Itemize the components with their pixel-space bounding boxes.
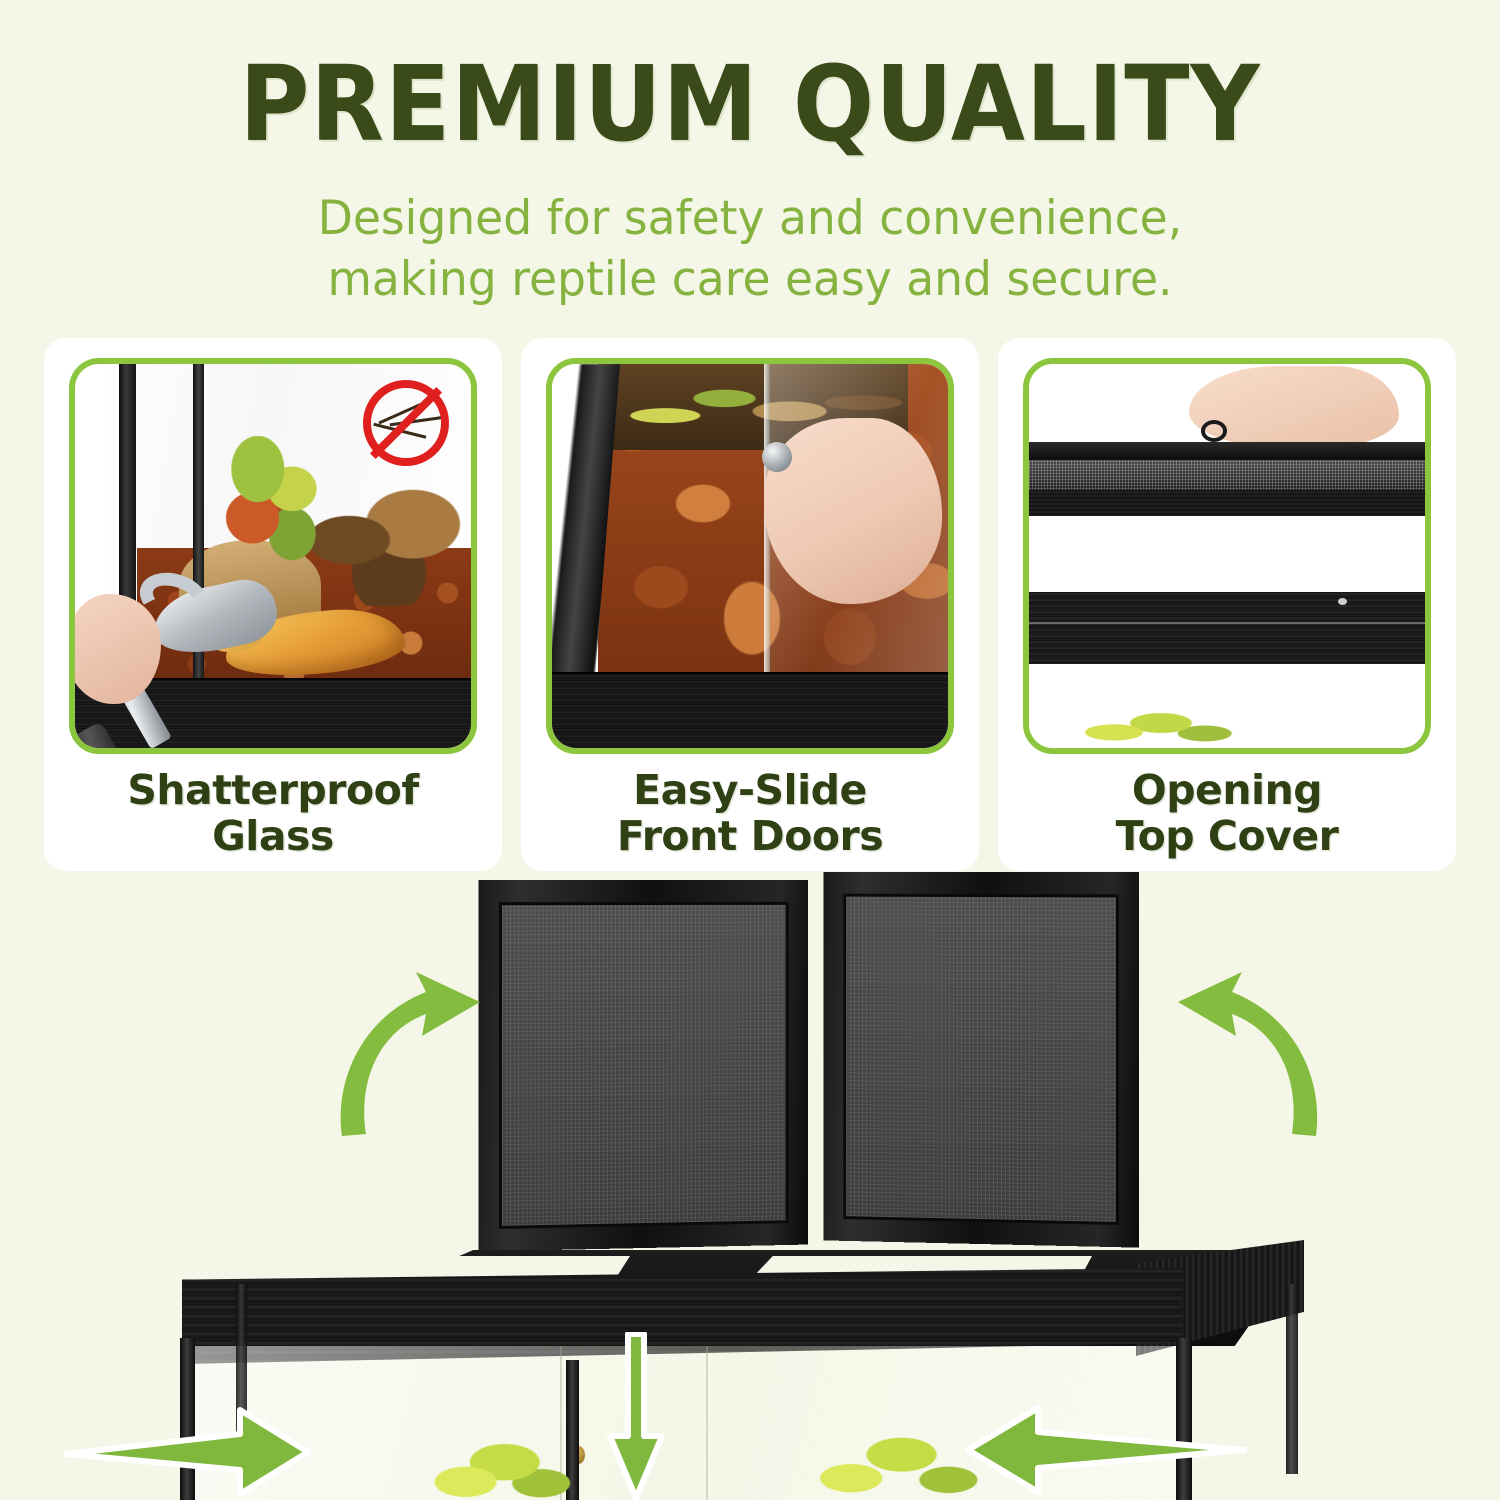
plant-decor xyxy=(205,436,337,568)
feature-label-opening-top-cover: Opening Top Cover xyxy=(1116,768,1339,860)
rail-seam xyxy=(1029,622,1425,624)
feature-label-easy-slide-front-doors: Easy-Slide Front Doors xyxy=(617,768,883,860)
feature-label-line-1: Easy-Slide xyxy=(617,768,883,814)
subtitle-line-1: Designed for safety and convenience, xyxy=(23,188,1478,249)
feature-label-line-1: Opening xyxy=(1116,768,1339,814)
side-arrow-right-icon xyxy=(928,1400,1248,1496)
feature-label-line-2: Top Cover xyxy=(1116,814,1339,860)
terrarium-hammer-scene xyxy=(75,364,471,748)
no-crack-icon xyxy=(363,380,449,466)
top-cover-scene xyxy=(1029,364,1425,748)
feature-label-line-2: Glass xyxy=(127,814,418,860)
terrarium-top-rail xyxy=(1029,592,1425,664)
curved-arrow-right-icon xyxy=(1098,958,1328,1138)
feature-label-shatterproof-glass: Shatterproof Glass xyxy=(127,768,418,860)
mesh-screen-strip xyxy=(1029,460,1425,492)
page-subtitle: Designed for safety and convenience, mak… xyxy=(23,188,1478,310)
feature-photo-opening-top-cover xyxy=(1023,358,1431,754)
header: PREMIUM QUALITY Designed for safety and … xyxy=(0,0,1500,310)
page-title: PREMIUM QUALITY xyxy=(60,52,1440,156)
feature-photo-easy-slide-front-doors xyxy=(546,358,954,754)
feature-cards-row: Shatterproof Glass Easy-Slide Front Door… xyxy=(44,338,1456,871)
base-rail xyxy=(552,672,948,748)
sliding-door-scene xyxy=(552,364,948,748)
plant-decor xyxy=(1077,696,1245,748)
feature-label-line-1: Shatterproof xyxy=(127,768,418,814)
plant-decor-left xyxy=(432,1430,572,1500)
hand-icon xyxy=(764,418,942,604)
lid-bottom-bar xyxy=(1029,490,1425,516)
terrarium-post-back-right xyxy=(1286,1284,1298,1474)
door-knob-icon xyxy=(762,442,792,472)
mesh-screen xyxy=(843,894,1119,1225)
feature-card-easy-slide-front-doors[interactable]: Easy-Slide Front Doors xyxy=(521,338,979,871)
feature-card-opening-top-cover[interactable]: Opening Top Cover xyxy=(998,338,1456,871)
mesh-top-cover-right xyxy=(824,872,1140,1248)
glass-door-seam xyxy=(706,1346,708,1500)
feature-label-line-2: Front Doors xyxy=(617,814,883,860)
down-arrow-center-icon xyxy=(606,1332,666,1500)
lid-top-bar xyxy=(1029,442,1425,462)
feature-card-shatterproof-glass[interactable]: Shatterproof Glass xyxy=(44,338,502,871)
subtitle-line-2: making reptile care easy and secure. xyxy=(23,249,1478,310)
feature-photo-shatterproof-glass xyxy=(69,358,477,754)
side-arrow-left-icon xyxy=(62,1404,312,1500)
curved-arrow-left-icon xyxy=(330,958,560,1138)
